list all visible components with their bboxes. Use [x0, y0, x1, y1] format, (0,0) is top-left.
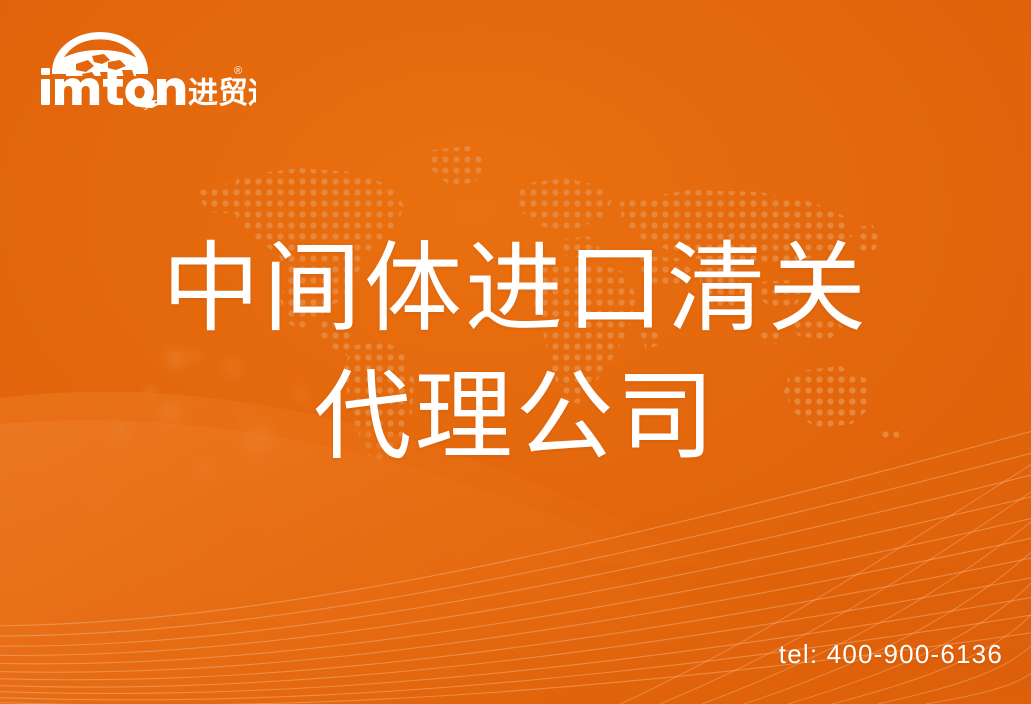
wordmark-chinese: 进贸通: [188, 77, 256, 110]
trademark-symbol: ®: [234, 65, 242, 77]
brand-logo[interactable]: 进贸通 ®: [36, 28, 256, 110]
headline-block: 中间体进口清关 代理公司: [0, 224, 1031, 480]
promo-poster: 进贸通 ® 中间体进口清关 代理公司 tel: 400-900-6136: [0, 0, 1031, 704]
telephone-text: tel: 400-900-6136: [779, 639, 1003, 670]
headline-line-2: 代理公司: [0, 352, 1031, 480]
headline-line-1: 中间体进口清关: [0, 224, 1031, 352]
